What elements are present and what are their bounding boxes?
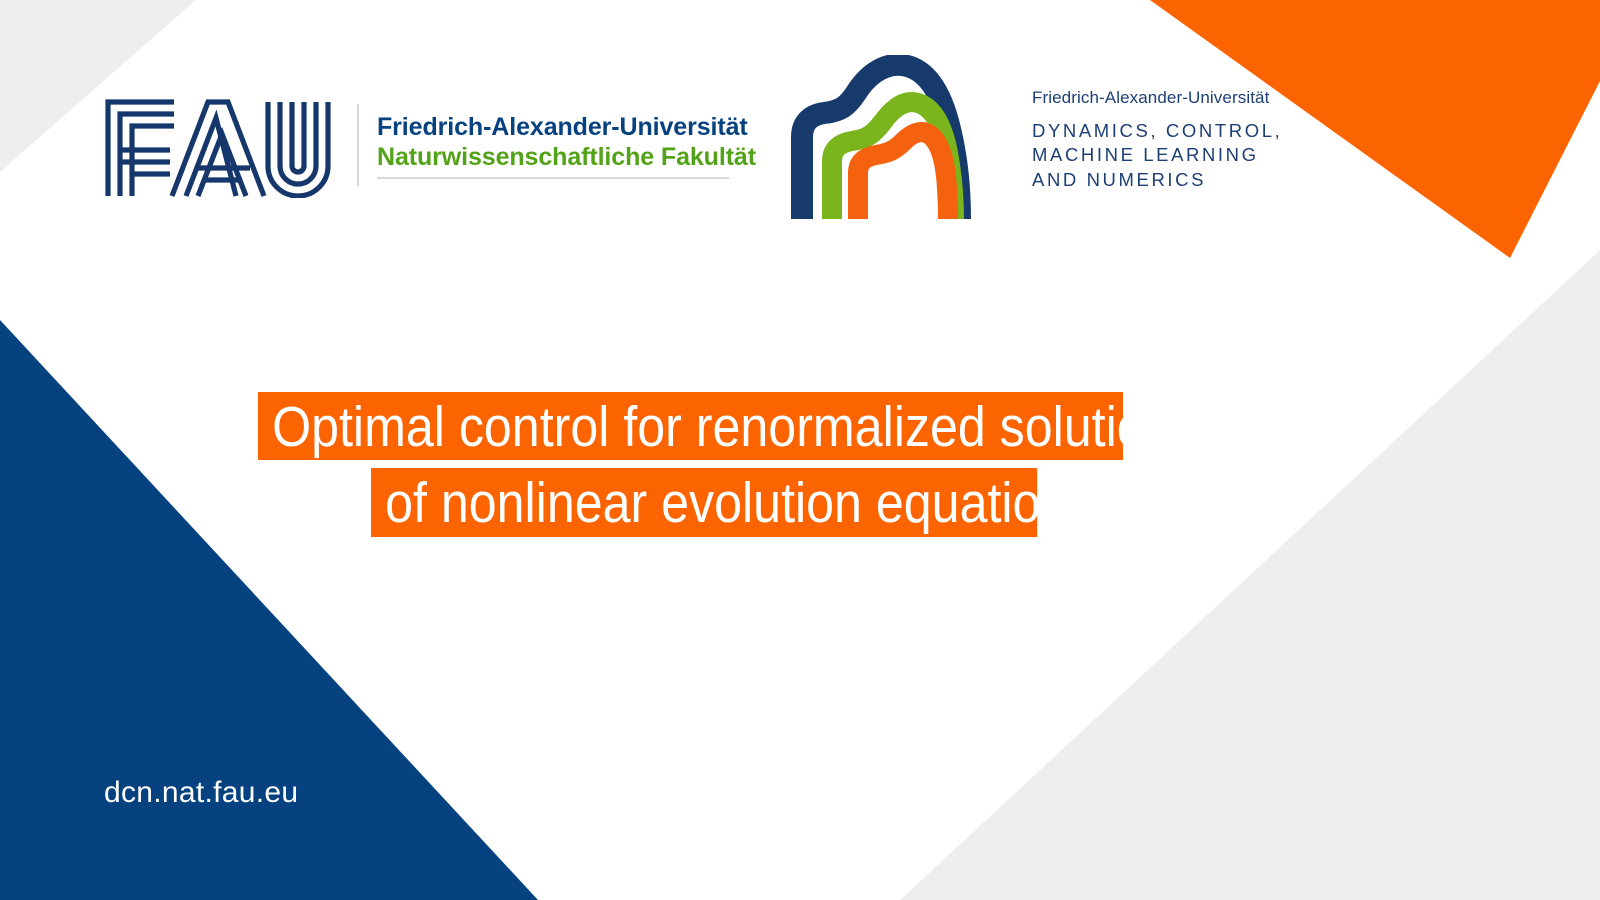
dcn-wave-mark-icon [790,55,1012,221]
fau-university-name: Friedrich-Alexander-Universität [377,112,756,143]
fau-logo: Friedrich-Alexander-Universität Naturwis… [100,92,756,198]
dcn-department-line-1: DYNAMICS, CONTROL, [1032,119,1282,144]
fau-underline-rule [377,177,729,179]
dcn-university-name: Friedrich-Alexander-Universität [1032,88,1282,108]
fau-wordmark-icon [100,92,343,198]
slide-title-line-2: of nonlinear evolution equations [371,468,1037,537]
title-slide: Friedrich-Alexander-Universität Naturwis… [0,0,1600,900]
dcn-wordmark-text: Friedrich-Alexander-Universität DYNAMICS… [1032,88,1282,193]
dcn-department-line-3: AND NUMERICS [1032,168,1282,193]
fau-faculty-name: Naturwissenschaftliche Fakultät [377,142,756,173]
fau-logo-divider [357,104,359,186]
dcn-logo: Friedrich-Alexander-Universität DYNAMICS… [790,55,1282,221]
dcn-department-line-2: MACHINE LEARNING [1032,143,1282,168]
fau-wordmark-text: Friedrich-Alexander-Universität Naturwis… [377,112,756,179]
footer-website-url[interactable]: dcn.nat.fau.eu [104,776,298,810]
bottom-right-grey-triangle [880,240,1600,900]
slide-title-line-1: Optimal control for renormalized solutio… [258,392,1123,460]
